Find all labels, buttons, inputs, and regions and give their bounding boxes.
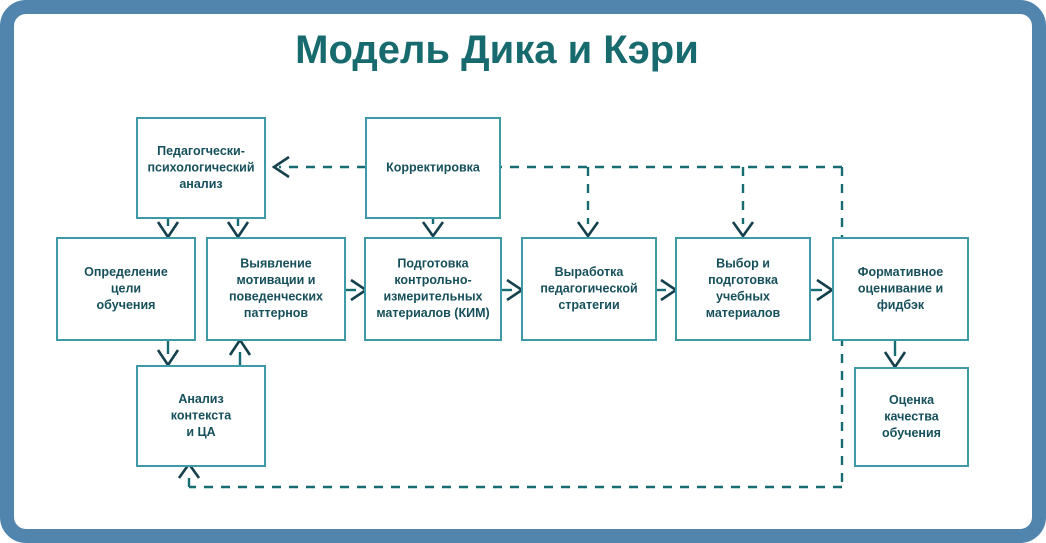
node-label-correction: Корректировка bbox=[386, 160, 481, 174]
node-label-context-and-audience-analysis: и ЦА bbox=[186, 425, 215, 439]
node-label-formative-assessment-and-feedback: фидбэк bbox=[877, 298, 925, 312]
node-label-learning-quality-evaluation: Оценка bbox=[889, 393, 935, 407]
node-label-learning-quality-evaluation: качества bbox=[884, 409, 940, 423]
node-label-select-and-prepare-learning-materials: подготовка bbox=[708, 273, 779, 287]
node-label-identify-motivation-and-behaviour-patterns: Выявление bbox=[240, 257, 311, 271]
node-prepare-assessment-materials[interactable]: Подготовкаконтрольно-измерительныхматери… bbox=[365, 238, 501, 340]
node-label-select-and-prepare-learning-materials: учебных bbox=[716, 290, 770, 304]
node-label-identify-motivation-and-behaviour-patterns: паттернов bbox=[244, 306, 309, 320]
node-label-pedagogical-psychological-analysis: Педагогчески- bbox=[157, 144, 245, 158]
node-label-select-and-prepare-learning-materials: Выбор и bbox=[716, 257, 770, 271]
node-develop-pedagogical-strategy[interactable]: Выработкапедагогическойстратегии bbox=[522, 238, 656, 340]
node-context-and-audience-analysis[interactable]: Анализконтекстаи ЦА bbox=[137, 366, 265, 466]
node-learning-quality-evaluation[interactable]: Оценкакачестваобучения bbox=[855, 368, 968, 466]
diagram-canvas: Модель Дика и Кэри bbox=[0, 0, 1046, 543]
page-title: Модель Дика и Кэри bbox=[295, 28, 699, 72]
node-label-prepare-assessment-materials: измерительных bbox=[384, 290, 483, 304]
node-label-context-and-audience-analysis: контекста bbox=[171, 408, 233, 422]
node-formative-assessment-and-feedback[interactable]: Формативноеоценивание ифидбэк bbox=[833, 238, 968, 340]
node-label-develop-pedagogical-strategy: педагогической bbox=[540, 281, 637, 295]
node-label-define-learning-goal: обучения bbox=[97, 298, 156, 312]
dick-and-carey-model-diagram: Модель Дика и Кэри bbox=[0, 0, 1046, 543]
node-label-develop-pedagogical-strategy: Выработка bbox=[555, 265, 625, 279]
correction-to-assessment-arrowhead bbox=[423, 222, 443, 236]
node-label-prepare-assessment-materials: контрольно- bbox=[394, 273, 471, 287]
node-label-context-and-audience-analysis: Анализ bbox=[178, 392, 223, 406]
node-pedagogical-psychological-analysis[interactable]: Педагогчески-психологическийанализ bbox=[137, 118, 265, 218]
node-label-formative-assessment-and-feedback: Формативное bbox=[858, 265, 943, 279]
node-label-develop-pedagogical-strategy: стратегии bbox=[558, 298, 619, 312]
node-label-pedagogical-psychological-analysis: психологический bbox=[147, 160, 254, 174]
diagram-nodes: Педагогчески-психологическийанализКоррек… bbox=[57, 118, 968, 466]
feedback-bus-arrowhead bbox=[274, 157, 289, 177]
node-identify-motivation-and-behaviour-patterns[interactable]: Выявлениемотивации иповеденческихпаттерн… bbox=[207, 238, 345, 340]
node-label-prepare-assessment-materials: Подготовка bbox=[397, 257, 469, 271]
node-label-prepare-assessment-materials: материалов (КИМ) bbox=[376, 306, 489, 320]
node-label-identify-motivation-and-behaviour-patterns: мотивации и bbox=[237, 273, 316, 287]
bus-branch-strategy-arrowhead bbox=[578, 222, 598, 236]
node-correction[interactable]: Корректировка bbox=[366, 118, 500, 218]
node-label-formative-assessment-and-feedback: оценивание и bbox=[858, 281, 943, 295]
node-select-and-prepare-learning-materials[interactable]: Выбор иподготовкаучебныхматериалов bbox=[676, 238, 810, 340]
node-label-select-and-prepare-learning-materials: материалов bbox=[706, 306, 781, 320]
node-label-learning-quality-evaluation: обучения bbox=[882, 426, 941, 440]
bus-branch-materials-arrowhead bbox=[733, 222, 753, 236]
node-label-define-learning-goal: Определение bbox=[84, 265, 168, 279]
node-label-pedagogical-psychological-analysis: анализ bbox=[179, 177, 222, 191]
node-label-define-learning-goal: цели bbox=[111, 281, 141, 295]
node-label-identify-motivation-and-behaviour-patterns: поведенческих bbox=[229, 290, 323, 304]
node-define-learning-goal[interactable]: Определениецелиобучения bbox=[57, 238, 195, 340]
